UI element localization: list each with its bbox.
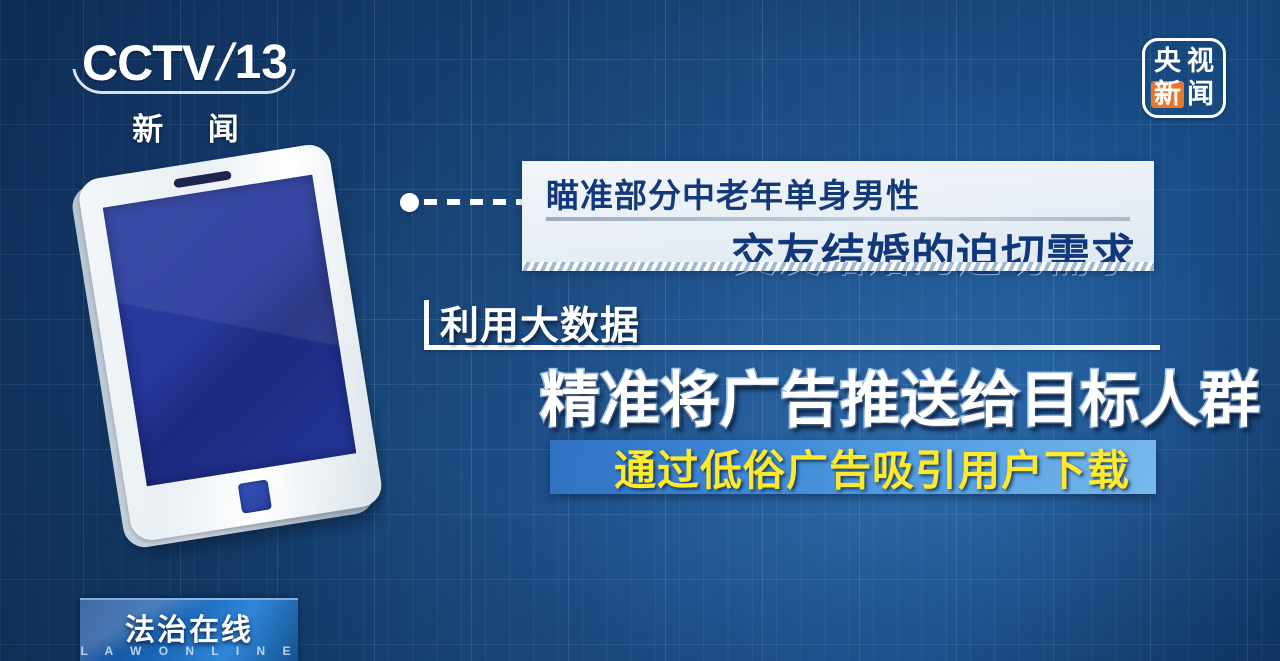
smartphone-home-button-icon [238,479,272,513]
cctv13-capsule-icon [72,34,296,94]
watermark-char-xin: 新 [1151,81,1184,108]
watermark-char-yang: 央 [1151,48,1184,75]
headline-panel-1-line-2: 交友结婚的迫切需求 [731,219,1136,283]
headline-panel-1-hatch-edge [522,262,1154,271]
connector-dot-icon [400,193,419,212]
watermark-line-1: 央 视 [1149,45,1219,78]
watermark-line-2: 新 闻 [1149,78,1219,111]
smartphone-screen [103,175,357,487]
bracket-vertical-stroke [424,300,429,347]
smartphone-icon [66,138,415,578]
program-badge-name-cn: 法治在线 [125,605,253,649]
headline-block-2-line-1: 利用大数据 [440,295,640,351]
headline-panel-1: 瞄准部分中老年单身男性 交友结婚的迫切需求 [522,161,1154,271]
headline-bar-3-text: 通过低俗广告吸引用户下载 [592,440,1152,494]
cctv-channel-subtitle: 新 闻 [78,104,293,149]
broadcast-frame: CCTV / 13 新 闻 央 视 新 闻 瞄准部分中老年单身男性 [0,0,1280,661]
smartphone-speaker-icon [173,170,232,188]
watermark-char-shi: 视 [1184,48,1217,75]
cctv13-logo-row: CCTV / 13 [78,34,293,92]
watermark-char-wen: 闻 [1184,81,1217,108]
headline-panel-1-line-1: 瞄准部分中老年单身男性 [546,169,920,217]
program-badge: 法治在线 L A W O N L I N E [80,598,298,661]
connector-dashed-line-icon [424,199,528,205]
program-badge-name-en: L A W O N L I N E [80,644,297,658]
cctv13-logo: CCTV / 13 新 闻 [78,34,293,136]
headline-block-2-line-2: 精准将广告推送给目标人群 [540,352,1260,439]
cctv-news-watermark: 央 视 新 闻 [1142,38,1226,118]
smartphone-screen-glare [103,175,357,487]
